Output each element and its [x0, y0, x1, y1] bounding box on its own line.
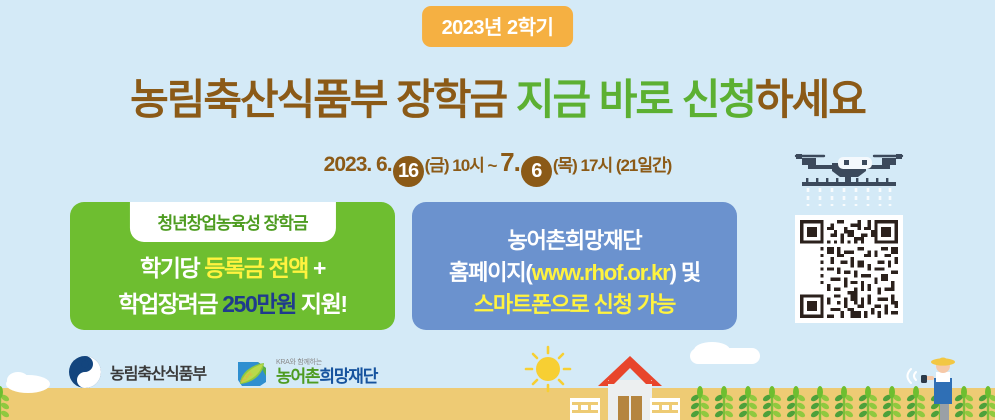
benefit-line2-prefix: 학업장려금 — [118, 291, 222, 317]
logo-ministry-label: 농림축산식품부 — [110, 360, 206, 384]
homepage-url[interactable]: www.rhof.or.kr — [532, 260, 670, 285]
scholarship-name-pill: 청년창업농육성 장학금 — [129, 202, 335, 242]
channel-homepage-suffix: ) 및 — [670, 260, 700, 285]
logo-foundation-name-green: 농어촌 — [276, 367, 319, 386]
headline-part-2: 지금 바로 신청 — [516, 76, 755, 123]
period-weekday-start: (금) 10시 ~ — [425, 156, 501, 175]
qr-code[interactable] — [795, 215, 903, 323]
logo-foundation-textblock: KRA와 함께하는 농어촌희망재단 — [276, 359, 377, 385]
footer-logos: 농림축산식품부 HOPE KRA와 함께하는 농어촌희망재단 — [68, 355, 377, 389]
benefit-line-2: 학업장려금 250만원 지원! — [70, 286, 395, 322]
logo-ministry: 농림축산식품부 — [68, 355, 206, 389]
fence-icon — [570, 398, 600, 420]
benefit-line1-suffix: + — [308, 255, 325, 281]
benefit-line1-highlight: 등록금 전액 — [204, 255, 308, 281]
channel-homepage-prefix: 홈페이지( — [449, 260, 532, 285]
period-day-end: 6 — [521, 156, 552, 187]
headline-part-3: 하세요 — [755, 76, 865, 123]
sun-icon — [526, 347, 570, 391]
logo-foundation: HOPE KRA와 함께하는 농어촌희망재단 — [236, 356, 377, 388]
benefit-line1-prefix: 학기당 — [140, 255, 204, 281]
channel-line-1: 농어촌희망재단 — [412, 225, 737, 257]
headline-part-1: 농림축산식품부 장학금 — [130, 76, 516, 123]
scholarship-benefit-card: 청년창업농육성 장학금 학기당 등록금 전액 + 학업장려금 250만원 지원! — [70, 202, 395, 330]
fence-icon — [650, 398, 680, 420]
benefit-line2-suffix: 지원! — [296, 291, 347, 317]
promo-banner: 2023년 2학기 농림축산식품부 장학금 지금 바로 신청하세요 2023. … — [0, 0, 995, 420]
application-period: 2023. 6.16(금) 10시 ~ 7.6(목) 17시 (21일간) — [0, 147, 995, 187]
semester-badge: 2023년 2학기 — [422, 6, 574, 47]
cloud-icon — [6, 372, 50, 393]
period-year-month-start: 2023. 6. — [324, 153, 392, 176]
benefit-line-1: 학기당 등록금 전액 + — [70, 250, 395, 286]
page-title: 농림축산식품부 장학금 지금 바로 신청하세요 — [0, 66, 995, 127]
channel-line-3: 스마트폰으로 신청 가능 — [412, 289, 737, 321]
channel-line-2: 홈페이지(www.rhof.or.kr) 및 — [412, 257, 737, 289]
period-day-start: 16 — [393, 156, 424, 187]
crop-row — [0, 386, 995, 420]
period-month-end: 7. — [500, 147, 520, 177]
benefit-details: 학기당 등록금 전액 + 학업장려금 250만원 지원! — [70, 250, 395, 322]
logo-foundation-name-blue: 희망재단 — [319, 367, 377, 386]
taegeuk-icon — [68, 355, 102, 389]
leaf-logo-icon: HOPE — [236, 356, 268, 388]
logo-foundation-tagline: KRA와 함께하는 — [276, 359, 377, 366]
cloud-icon — [690, 342, 760, 364]
application-channel-details: 농어촌희망재단 홈페이지(www.rhof.or.kr) 및 스마트폰으로 신청… — [412, 225, 737, 321]
application-channel-card: 농어촌희망재단 홈페이지(www.rhof.or.kr) 및 스마트폰으로 신청… — [412, 202, 737, 330]
logo-foundation-name: 농어촌희망재단 — [276, 368, 377, 385]
period-weekday-end: (목) 17시 (21일간) — [553, 156, 671, 175]
benefit-line2-amount: 250만원 — [222, 291, 296, 317]
